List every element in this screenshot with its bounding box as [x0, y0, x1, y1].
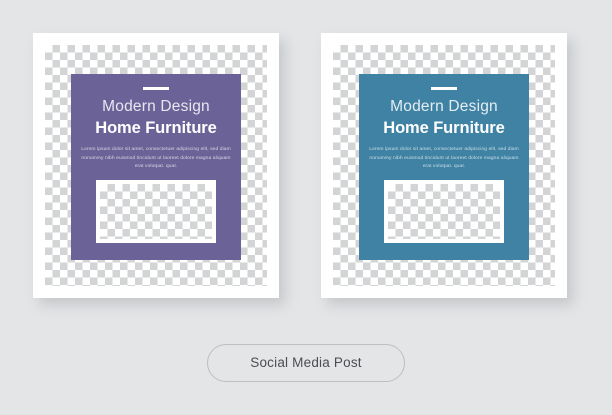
body-copy: Lorem ipsum dolor sit amet, consectetuer… [80, 146, 232, 172]
social-media-post-pill[interactable]: Social Media Post [207, 344, 404, 382]
card-color-panel: Modern Design Home Furniture Lorem ipsum… [71, 74, 241, 260]
social-post-card-teal[interactable]: Modern Design Home Furniture Lorem ipsum… [321, 33, 567, 298]
body-copy: Lorem ipsum dolor sit amet, consectetuer… [368, 146, 520, 172]
divider-dash-icon [143, 87, 169, 90]
photo-placeholder-frame[interactable] [96, 180, 216, 243]
headline-bold: Home Furniture [359, 120, 529, 137]
card-transparent-background: Modern Design Home Furniture Lorem ipsum… [45, 45, 267, 286]
page-canvas: Modern Design Home Furniture Lorem ipsum… [0, 0, 612, 415]
social-post-card-purple[interactable]: Modern Design Home Furniture Lorem ipsum… [33, 33, 279, 298]
card-color-panel: Modern Design Home Furniture Lorem ipsum… [359, 74, 529, 260]
divider-dash-icon [431, 87, 457, 90]
headline-light: Modern Design [71, 99, 241, 115]
headline-light: Modern Design [359, 99, 529, 115]
card-transparent-background: Modern Design Home Furniture Lorem ipsum… [333, 45, 555, 286]
photo-placeholder-frame[interactable] [384, 180, 504, 243]
social-post-cards-row: Modern Design Home Furniture Lorem ipsum… [0, 0, 612, 330]
headline-bold: Home Furniture [71, 120, 241, 137]
footer-label-wrap: Social Media Post [0, 344, 612, 382]
